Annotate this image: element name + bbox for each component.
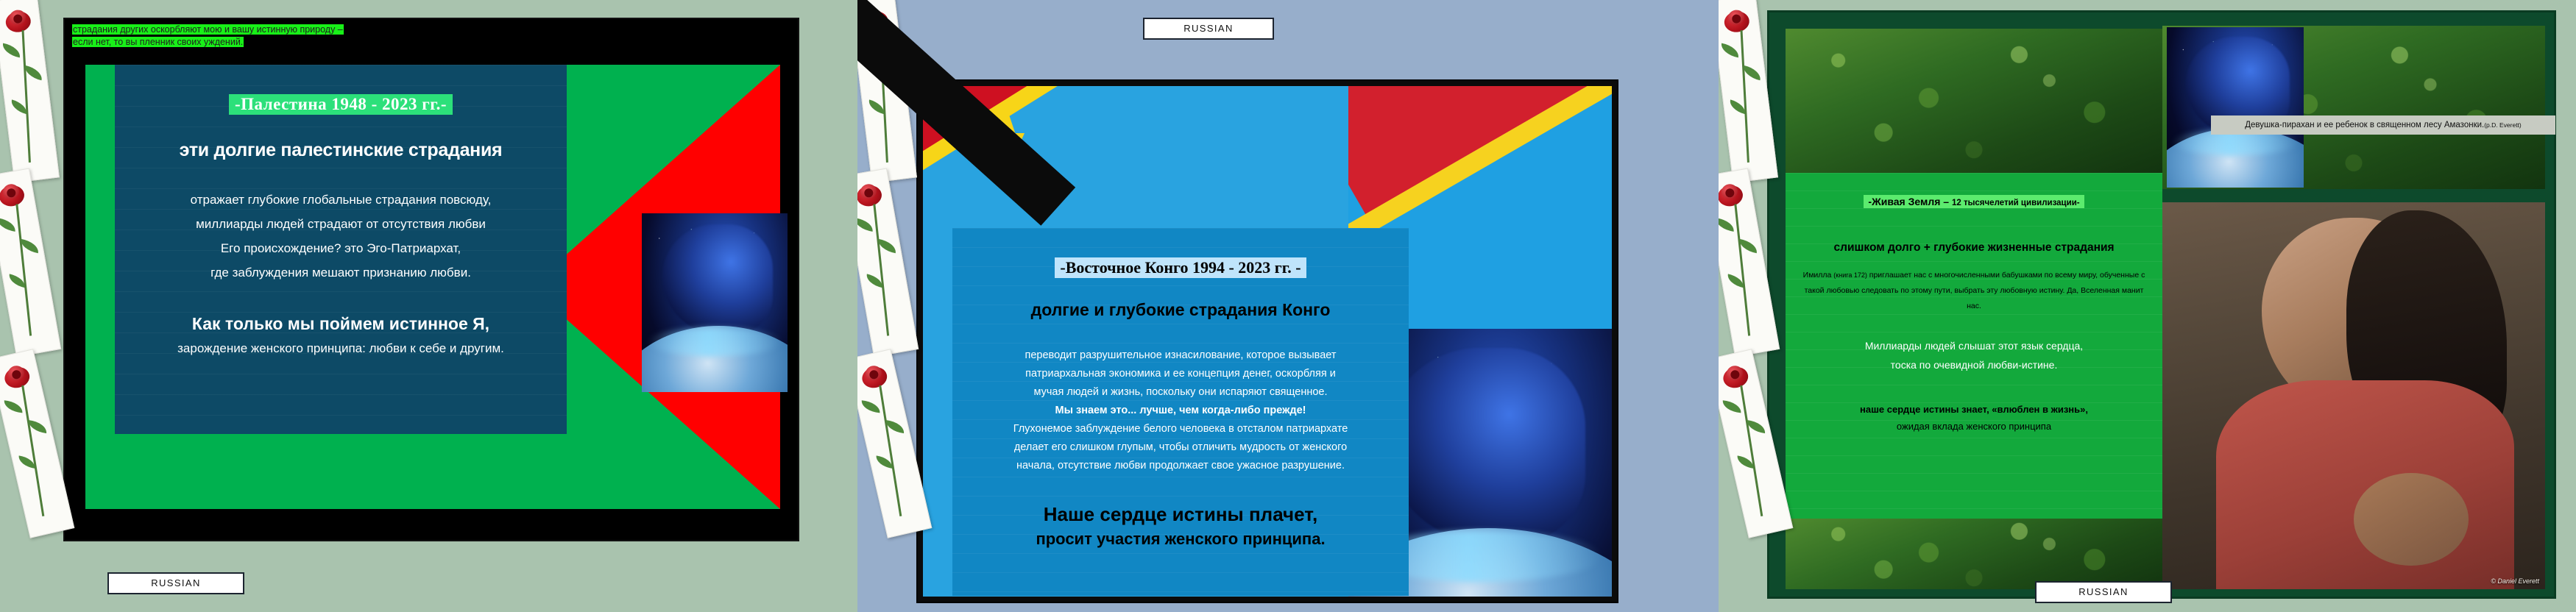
slide-panel-palestine: страдания других оскорбляют мою и вашу и…: [0, 0, 857, 612]
rose-leaf: [885, 420, 905, 433]
amazon-paragraph: Имилла (книга 172) приглашает нас с мног…: [1799, 268, 2149, 314]
slide-panel-amazon: -Живая Земля – 12 тысячелетий цивилизаци…: [1719, 0, 2576, 612]
palestine-text-body: -Палестина 1948 - 2023 гг.- эти долгие п…: [115, 65, 567, 434]
congo-line: делает его слишком глупым, чтобы отличит…: [952, 438, 1409, 457]
rose-leaf: [19, 239, 40, 253]
rose-icon: [1719, 361, 1752, 392]
earth-goddess-image: [2167, 27, 2304, 188]
rose-stem: [22, 30, 31, 163]
amazon-photo-caption-credit: (p.D. Everett): [2484, 121, 2522, 129]
rose-leaf: [1736, 455, 1755, 469]
rose-stem: [1740, 385, 1763, 516]
amazon-title: -Живая Земля – 12 тысячелетий цивилизаци…: [1864, 195, 2084, 208]
amazon-white-lines: Миллиарды людей слышат этот язык сердца,…: [1786, 336, 2162, 374]
rose-leaf: [1, 43, 21, 58]
palestine-note-line-2: если нет, то вы пленник своих уждений.: [72, 36, 484, 49]
photo-baby: [2354, 473, 2469, 566]
congo-line: начала, отсутствие любви продолжает свое…: [952, 457, 1409, 475]
rose-stem: [1734, 204, 1750, 335]
amazon-rainforest-image-bottom: [1786, 519, 2162, 589]
amazon-slide-frame: -Живая Земля – 12 тысячелетий цивилизаци…: [1767, 10, 2556, 599]
photo-credit-watermark: © Daniel Everett: [2491, 577, 2539, 585]
congo-closing-bold: Наше сердце истины плачет,: [952, 502, 1409, 527]
amazon-closing-line-1: наше сердце истины знает, «влюблен в жиз…: [1786, 404, 2162, 415]
congo-text-body: -Восточное Конго 1994 - 2023 гг. - долги…: [952, 228, 1409, 596]
amazon-rainforest-image-top: [1786, 29, 2162, 173]
rose-leaf: [27, 420, 48, 433]
language-badge-palestine[interactable]: RUSSIAN: [107, 572, 244, 594]
atmosphere-glow: [648, 328, 782, 357]
amazon-closing-line-2: ожидая вклада женского принципа: [1786, 421, 2162, 432]
rose-leaf: [0, 218, 17, 231]
palestine-closing-sub: зарождение женского принципа: любви к се…: [122, 341, 559, 356]
rose-leaf: [865, 274, 884, 288]
congo-line: переводит разрушительное изнасилование, …: [952, 346, 1409, 365]
amazon-paragraph-lead: Имилла: [1803, 271, 1834, 280]
rose-leaf: [23, 65, 44, 80]
rose-decoration-strip-left: [0, 0, 53, 612]
rose-stem: [879, 385, 902, 516]
rose-stem: [1741, 30, 1749, 163]
congo-body-lines: переводит разрушительное изнасилование, …: [952, 346, 1409, 475]
rose-icon: [858, 361, 891, 392]
rose-leaf: [9, 99, 29, 114]
rose-leaf: [18, 455, 37, 469]
amazon-white-line: Миллиарды людей слышат этот язык сердца,: [1786, 336, 2162, 355]
rose-icon: [0, 180, 27, 210]
rose-card: [857, 168, 919, 357]
amazon-title-thin: 12 тысячелетий цивилизации-: [1952, 199, 2080, 207]
congo-heading: долгие и глубокие страдания Конго: [952, 300, 1409, 320]
rose-icon: [1722, 7, 1752, 35]
amazon-heading: слишком долго + глубокие жизненные страд…: [1786, 241, 2162, 255]
amazon-white-line: тоска по очевидной любви-истине.: [1786, 355, 2162, 374]
rose-leaf: [1722, 400, 1741, 413]
amazon-title-bold: -Живая Земля –: [1868, 196, 1952, 207]
rose-leaf: [1746, 420, 1766, 433]
rose-icon: [3, 7, 34, 35]
language-badge-congo[interactable]: RUSSIAN: [1143, 18, 1274, 40]
rose-leaf: [1719, 43, 1740, 58]
amazon-piraha-mother-photo: © Daniel Everett: [2162, 202, 2545, 589]
language-badge-amazon[interactable]: RUSSIAN: [2035, 581, 2172, 603]
rose-icon: [1719, 180, 1746, 210]
palestine-slide-frame: страдания других оскорбляют мою и вашу и…: [63, 18, 799, 541]
rose-leaf: [1719, 218, 1735, 231]
rose-leaf: [857, 218, 874, 231]
amazon-text-body: -Живая Земля – 12 тысячелетий цивилизаци…: [1786, 173, 2162, 519]
palestine-closing-bold: Как только мы поймем истинное Я,: [122, 314, 559, 334]
palestine-heading: эти долгие палестинские страдания: [122, 140, 559, 161]
rose-stem: [21, 385, 44, 516]
rose-card: [0, 0, 60, 183]
congo-line: мучая людей и жизнь, поскольку они испар…: [952, 383, 1409, 402]
congo-line: Глухонемое заблуждение белого человека в…: [952, 420, 1409, 438]
congo-line: патриархальная экономика и ее концепция …: [952, 365, 1409, 383]
rose-leaf: [1726, 274, 1745, 288]
rose-icon: [1, 361, 34, 392]
rose-leaf: [1727, 99, 1747, 114]
rose-leaf: [1741, 65, 1763, 80]
palestine-title: -Палестина 1948 - 2023 гг.-: [229, 94, 453, 115]
palestine-line: Его происхождение? это Эго-Патриархат,: [122, 236, 559, 260]
rose-leaf: [3, 400, 23, 413]
rose-icon: [857, 180, 885, 210]
slide-panel-congo: RUSSIAN -Восточное Конго 1994 - 2023 гг.…: [857, 0, 1719, 612]
earth-goddess-image: [642, 213, 788, 392]
palestine-note-line-1: страдания других оскорбляют мою и вашу и…: [72, 24, 484, 36]
rose-leaf: [875, 455, 894, 469]
palestine-line: отражает глубокие глобальные страдания п…: [122, 188, 559, 212]
rose-leaf: [866, 99, 886, 114]
palestine-line: где заблуждения мешают признанию любви.: [122, 260, 559, 285]
palestine-note-overlay: страдания других оскорбляют мою и вашу и…: [72, 24, 484, 49]
congo-closing: Наше сердце истины плачет, просит участи…: [952, 502, 1409, 552]
rose-stem: [873, 204, 889, 335]
congo-emphasis-line: Мы знаем это... лучше, чем когда-либо пр…: [952, 402, 1409, 420]
palestine-line: миллиарды людей страдают от отсутствия л…: [122, 212, 559, 236]
rose-leaf: [1738, 239, 1758, 253]
congo-closing-sub: просит участия женского принципа.: [952, 527, 1409, 552]
amazon-photo-caption: Девушка-пирахан и ее ребенок в священном…: [2211, 115, 2555, 135]
congo-title: -Восточное Конго 1994 - 2023 гг. -: [1055, 257, 1306, 278]
rose-leaf: [860, 400, 880, 413]
amazon-paragraph-book-ref: (книга 172): [1833, 271, 1867, 279]
rose-card: [0, 168, 61, 357]
amazon-photo-caption-text: Девушка-пирахан и ее ребенок в священном…: [2245, 121, 2484, 129]
rose-decoration-strip-left: [1719, 0, 1772, 612]
palestine-body-lines: отражает глубокие глобальные страдания п…: [122, 188, 559, 285]
rose-leaf: [877, 239, 897, 253]
rose-leaf: [7, 274, 26, 288]
rose-stem: [15, 204, 32, 335]
